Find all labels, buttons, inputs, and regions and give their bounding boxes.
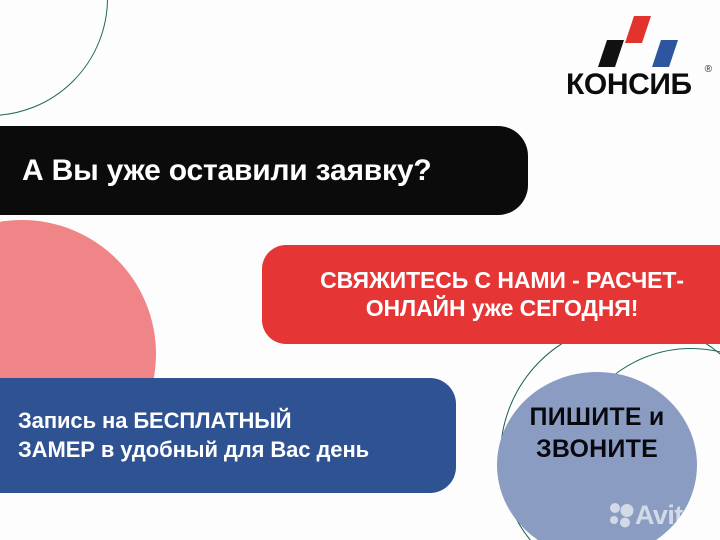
circle-callout-text: ПИШИТЕ и ЗВОНИТЕ [497,402,697,465]
cta-banner-blue: Запись на БЕСПЛАТНЫЙ ЗАМЕР в удобный для… [0,378,456,493]
cta-banner-red-line2-part2: уже [472,295,520,321]
decorative-ring-top-left [0,0,108,116]
cta-banner-blue-line1: Запись на БЕСПЛАТНЫЙ [18,408,291,433]
registered-trademark-symbol: ® [705,64,712,75]
headline-banner-black-text: А Вы уже оставили заявку? [22,154,431,188]
brand-logo: КОНСИБ ® [566,16,710,106]
cta-banner-red-line1: СВЯЖИТЕСЬ С НАМИ - РАСЧЕТ- [320,267,684,293]
headline-banner-black: А Вы уже оставили заявку? [0,126,528,215]
circle-callout-line2: ЗВОНИТЕ [536,435,658,463]
promo-banner-canvas: КОНСИБ ® А Вы уже оставили заявку? СВЯЖИ… [0,0,720,540]
konsib-three-parallelograms-logo-icon [598,16,680,68]
cta-banner-red-line2-part1: ОНЛАЙН [366,295,472,321]
cta-banner-red-text: СВЯЖИТЕСЬ С НАМИ - РАСЧЕТ- ОНЛАЙН уже СЕ… [284,267,720,321]
cta-banner-blue-text: Запись на БЕСПЛАТНЫЙ ЗАМЕР в удобный для… [18,407,369,464]
cta-banner-red-line2-part3: СЕГОДНЯ! [520,295,639,321]
circle-callout-line1: ПИШИТЕ и [530,403,665,431]
brand-wordmark: КОНСИБ [566,70,704,100]
cta-banner-blue-line2: ЗАМЕР в удобный для Вас день [18,437,369,462]
cta-banner-red: СВЯЖИТЕСЬ С НАМИ - РАСЧЕТ- ОНЛАЙН уже СЕ… [262,245,720,344]
